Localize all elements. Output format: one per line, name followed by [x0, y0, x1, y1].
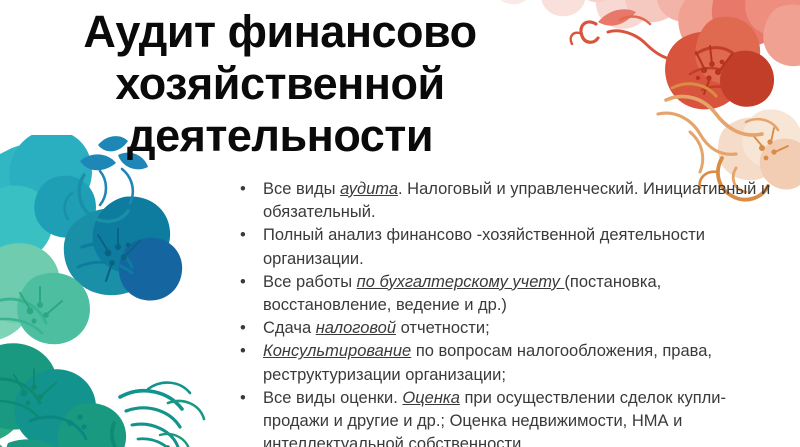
- plain-text: Сдача: [263, 319, 316, 337]
- emphasised-term: Оценка: [402, 389, 460, 407]
- plain-text: Все работы: [263, 273, 357, 291]
- plain-text: Все виды: [263, 180, 340, 198]
- floral-corner-teal-icon: [0, 135, 272, 447]
- bullet-marker-icon: •: [240, 340, 246, 363]
- bullet-item-text: Консультирование по вопросам налогооблож…: [263, 342, 712, 383]
- bullet-list: •Все виды аудита. Налоговый и управленче…: [236, 178, 784, 447]
- bullet-item-text: Все виды оценки. Оценка при осуществлени…: [263, 389, 726, 447]
- bullet-item: •Все работы по бухгалтерскому учету (пос…: [236, 271, 784, 317]
- bullet-item: •Все виды аудита. Налоговый и управленче…: [236, 178, 784, 224]
- title-line-2: хозяйственной: [20, 58, 540, 110]
- plain-text: отчетности;: [396, 319, 490, 337]
- plain-text: Все виды оценки.: [263, 389, 402, 407]
- bullet-item: •Все виды оценки. Оценка при осуществлен…: [236, 387, 784, 447]
- bullet-item-text: Сдача налоговой отчетности;: [263, 319, 490, 337]
- bullet-item: •Сдача налоговой отчетности;: [236, 317, 784, 340]
- emphasised-term: Консультирование: [263, 342, 411, 360]
- bullet-marker-icon: •: [240, 271, 246, 294]
- bullet-item-text: Полный анализ финансово -хозяйственной д…: [263, 226, 705, 267]
- bullet-item-text: Все виды аудита. Налоговый и управленчес…: [263, 180, 770, 221]
- plain-text: Полный анализ финансово -хозяйственной д…: [263, 226, 705, 267]
- title-line-3: деятельности: [20, 110, 540, 162]
- emphasised-term: по бухгалтерскому учету: [357, 273, 565, 291]
- slide-title: Аудит финансово хозяйственной деятельнос…: [20, 6, 540, 162]
- emphasised-term: налоговой: [316, 319, 396, 337]
- bullet-marker-icon: •: [240, 317, 246, 340]
- bullet-item-text: Все работы по бухгалтерскому учету (пост…: [263, 273, 661, 314]
- title-line-1: Аудит финансово: [20, 6, 540, 58]
- bullet-marker-icon: •: [240, 224, 246, 247]
- bullet-item: •Консультирование по вопросам налогообло…: [236, 340, 784, 386]
- slide-canvas: Аудит финансово хозяйственной деятельнос…: [0, 0, 800, 447]
- emphasised-term: аудита: [340, 180, 398, 198]
- bullet-marker-icon: •: [240, 387, 246, 410]
- bullet-item: •Полный анализ финансово -хозяйственной …: [236, 224, 784, 270]
- bullet-marker-icon: •: [240, 178, 246, 201]
